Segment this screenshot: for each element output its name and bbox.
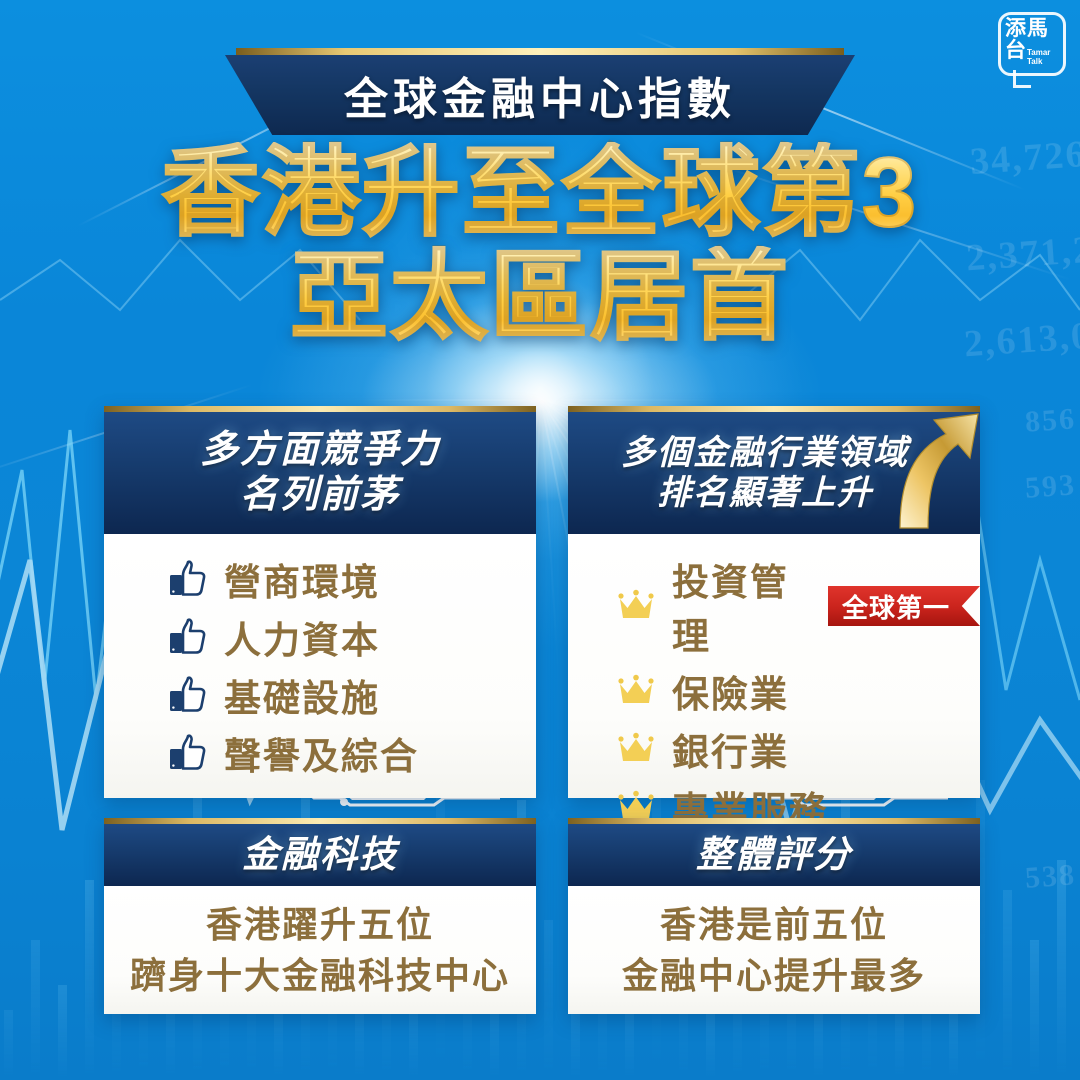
list-item-label: 基礎設施	[224, 668, 380, 722]
card-sectors-header: 多個金融行業領域 排名顯著上升	[568, 412, 980, 534]
bg-bar	[1057, 860, 1066, 1080]
thumbs-up-icon	[166, 615, 210, 659]
card-overall-text: 香港是前五位 金融中心提升最多	[622, 899, 926, 1001]
card-sectors: 多個金融行業領域 排名顯著上升 投資管理	[568, 406, 980, 798]
poster-root: 34,726 2,371,2 2,613,0 856 593 538	[0, 0, 1080, 1080]
card-competitiveness-header: 多方面競爭力 名列前茅	[104, 412, 536, 534]
list-item[interactable]: 保險業	[616, 664, 980, 718]
card-overall-header: 整體評分	[568, 824, 980, 886]
card-overall-text-line1: 香港是前五位	[622, 899, 926, 950]
card-overall-title: 整體評分	[696, 833, 852, 877]
card-overall-body: 香港是前五位 金融中心提升最多	[568, 886, 980, 1014]
list-item[interactable]: 投資管理 全球第一	[616, 552, 980, 660]
bg-bar	[4, 1010, 13, 1080]
card-fintech-title: 金融科技	[242, 833, 398, 877]
logo-english: Tamar Talk	[1027, 49, 1061, 66]
card-competitiveness-body: 營商環境 人力資本 基礎設施	[104, 534, 536, 798]
list-item[interactable]: 基礎設施	[166, 668, 536, 722]
banner: 全球金融中心指數	[225, 48, 855, 135]
light-ray	[361, 399, 541, 401]
speech-bubble-tail-icon	[1013, 70, 1031, 88]
list-item-label: 人力資本	[224, 610, 380, 664]
banner-gold-bar	[236, 48, 844, 55]
thumbs-up-icon	[166, 731, 210, 775]
light-ray	[540, 400, 560, 680]
card-sectors-title: 多個金融行業領域 排名顯著上升	[621, 433, 927, 513]
list-item-label: 聲譽及綜合	[224, 726, 419, 780]
card-sectors-body: 投資管理 全球第一 保險業 銀行業	[568, 534, 980, 798]
list-item-label: 營商環境	[224, 552, 380, 606]
card-competitiveness-title: 多方面競爭力 名列前茅	[200, 428, 440, 518]
list-item[interactable]: 營商環境	[166, 552, 536, 606]
bg-bar	[1003, 890, 1012, 1080]
status-badge: 全球第一	[828, 586, 980, 626]
list-item-label: 銀行業	[672, 722, 789, 776]
card-fintech-text-line2: 躋身十大金融科技中心	[130, 950, 510, 1001]
card-fintech-text-line1: 香港躍升五位	[130, 899, 510, 950]
thumbs-up-icon	[166, 557, 210, 601]
bg-bar	[31, 940, 40, 1080]
card-overall-text-line2: 金融中心提升最多	[622, 950, 926, 1001]
card-competitiveness: 多方面競爭力 名列前茅 營商環境 人力資本	[104, 406, 536, 798]
hero-title-line1: 香港升至全球第3	[0, 142, 1080, 244]
bg-bar	[58, 985, 67, 1080]
bg-bar	[85, 880, 94, 1080]
competitiveness-list: 營商環境 人力資本 基礎設施	[104, 552, 536, 780]
list-item[interactable]: 人力資本	[166, 610, 536, 664]
card-competitiveness-title-line2: 名列前茅	[200, 473, 440, 518]
status-badge-label: 全球第一	[842, 588, 950, 625]
list-item-label: 保險業	[672, 664, 789, 718]
up-arrow-icon	[892, 412, 980, 534]
card-fintech-text: 香港躍升五位 躋身十大金融科技中心	[130, 899, 510, 1001]
logo-chinese-line2: 台	[1005, 40, 1026, 62]
bg-number: 593	[1024, 468, 1077, 505]
crown-icon	[616, 674, 656, 708]
card-fintech-body: 香港躍升五位 躋身十大金融科技中心	[104, 886, 536, 1014]
card-fintech: 金融科技 香港躍升五位 躋身十大金融科技中心	[104, 818, 536, 1014]
list-item-label: 投資管理	[672, 552, 816, 660]
light-ray	[541, 399, 721, 401]
card-sectors-title-line1: 多個金融行業領域	[621, 433, 909, 473]
crown-icon	[616, 589, 656, 623]
sectors-list: 投資管理 全球第一 保險業 銀行業	[568, 552, 980, 834]
thumbs-up-icon	[166, 673, 210, 717]
card-sectors-title-line2: 排名顯著上升	[621, 473, 909, 513]
bg-number: 538	[1024, 858, 1077, 895]
logo-english-line2: Talk	[1027, 58, 1061, 67]
tamar-talk-logo[interactable]: 添馬 台 Tamar Talk	[998, 12, 1066, 76]
list-item[interactable]: 銀行業	[616, 722, 980, 776]
hero-title-line2: 亞太區居首	[0, 246, 1080, 348]
logo-chinese-line1: 添馬	[1005, 17, 1061, 40]
banner-plate: 全球金融中心指數	[225, 55, 855, 135]
crown-icon	[616, 732, 656, 766]
card-fintech-header: 金融科技	[104, 824, 536, 886]
hero-title: 香港升至全球第3 亞太區居首	[0, 142, 1080, 348]
list-item[interactable]: 聲譽及綜合	[166, 726, 536, 780]
bg-number: 856	[1024, 402, 1077, 439]
bg-bar	[544, 920, 553, 1080]
card-competitiveness-title-line1: 多方面競爭力	[200, 428, 440, 473]
card-overall: 整體評分 香港是前五位 金融中心提升最多	[568, 818, 980, 1014]
bg-bar	[1030, 940, 1039, 1080]
banner-title: 全球金融中心指數	[344, 63, 736, 127]
